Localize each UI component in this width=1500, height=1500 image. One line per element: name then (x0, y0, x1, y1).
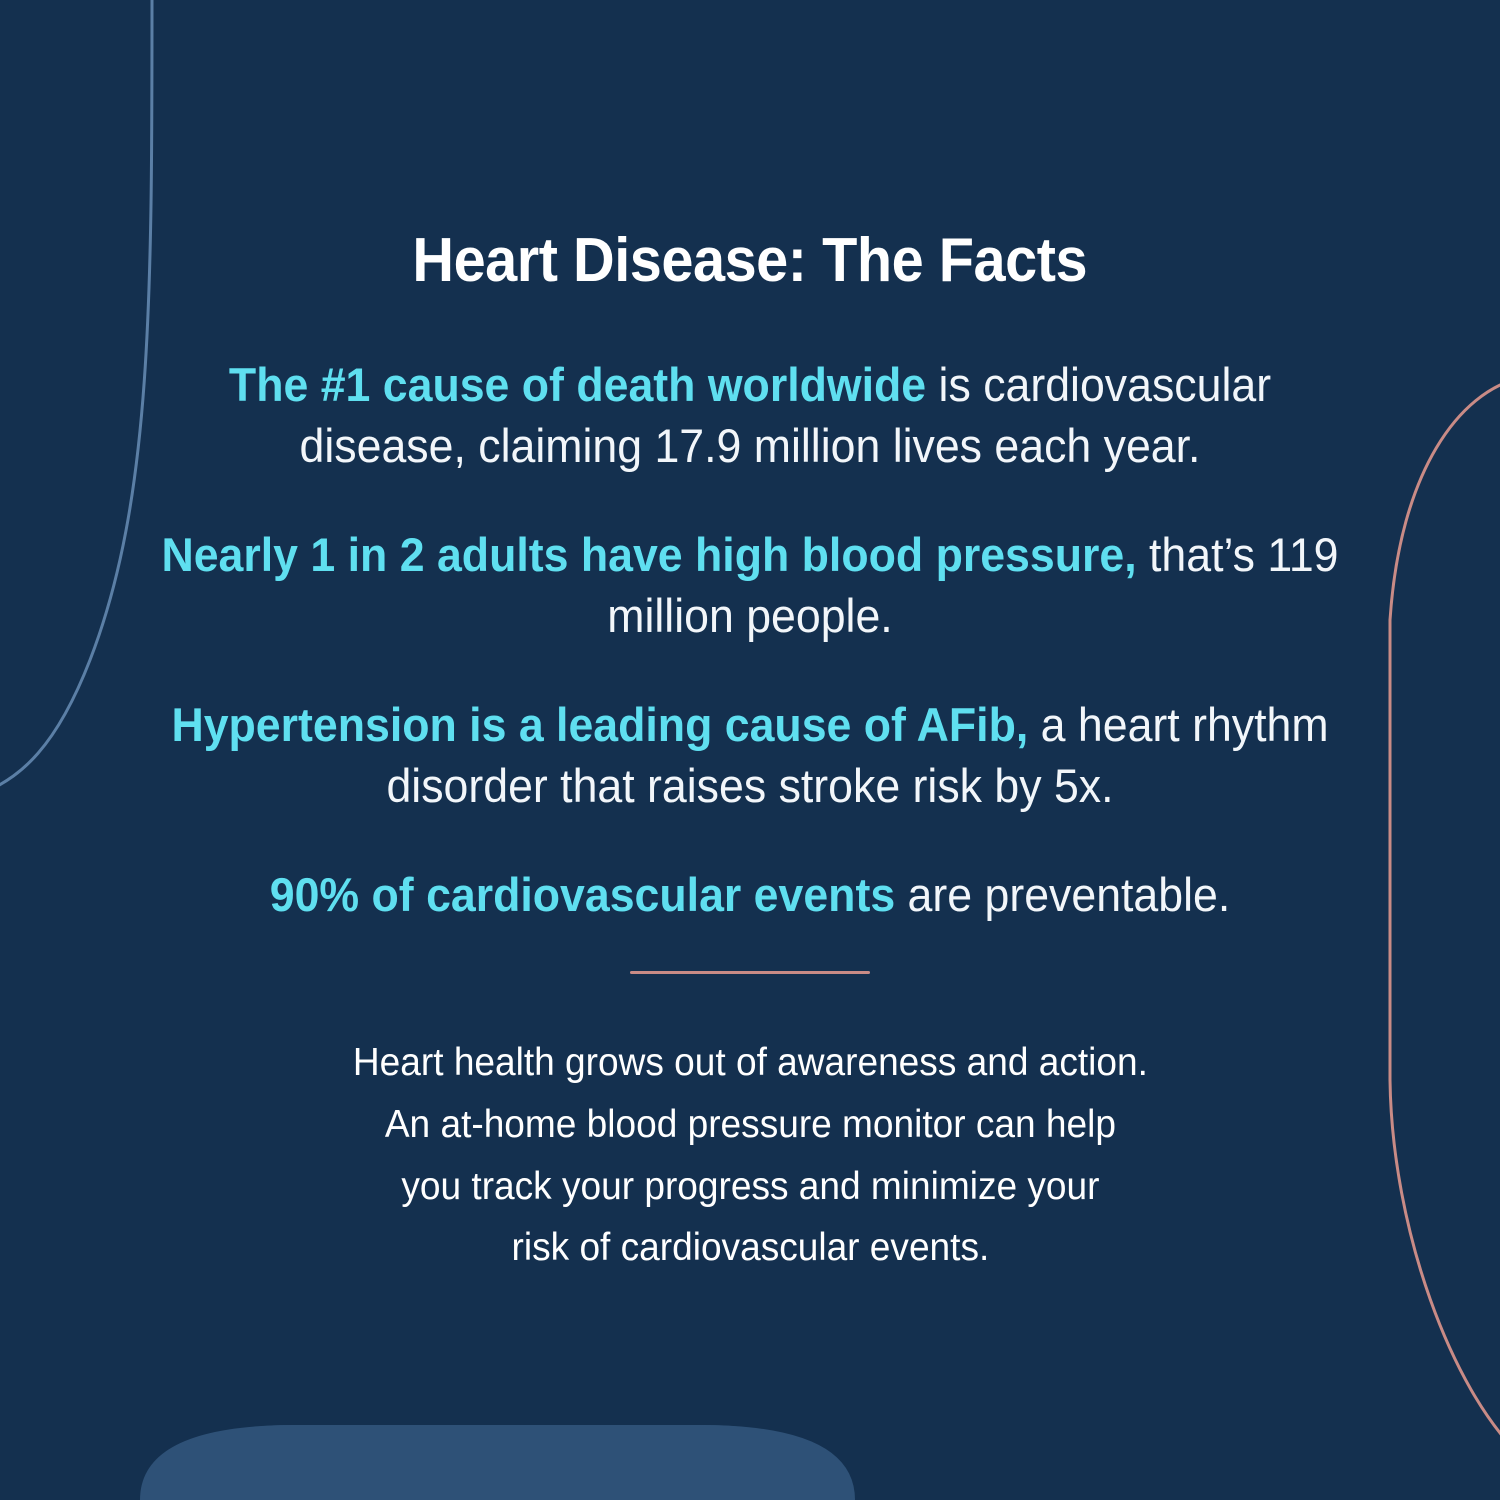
infographic-content: Heart Disease: The Facts The #1 cause of… (0, 0, 1500, 1500)
fact-item: 90% of cardiovascular events are prevent… (152, 864, 1349, 925)
section-divider (630, 971, 870, 974)
outro-line: Heart health grows out of awareness and … (352, 1032, 1147, 1094)
fact-rest: are preventable. (895, 868, 1230, 921)
outro-line: risk of cardiovascular events. (352, 1217, 1147, 1279)
outro-line: you track your progress and minimize you… (352, 1156, 1147, 1218)
fact-highlight: Nearly 1 in 2 adults have high blood pre… (161, 528, 1136, 581)
fact-highlight: Hypertension is a leading cause of AFib, (171, 698, 1028, 751)
outro-paragraph: Heart health grows out of awareness and … (352, 1032, 1147, 1278)
fact-highlight: The #1 cause of death worldwide (229, 358, 926, 411)
fact-highlight: 90% of cardiovascular events (270, 868, 895, 921)
fact-item: The #1 cause of death worldwide is cardi… (152, 354, 1349, 476)
fact-item: Hypertension is a leading cause of AFib,… (152, 694, 1349, 816)
fact-item: Nearly 1 in 2 adults have high blood pre… (152, 524, 1349, 646)
facts-list: The #1 cause of death worldwide is cardi… (120, 354, 1380, 926)
page-title: Heart Disease: The Facts (413, 228, 1088, 294)
outro-line: An at-home blood pressure monitor can he… (352, 1094, 1147, 1156)
